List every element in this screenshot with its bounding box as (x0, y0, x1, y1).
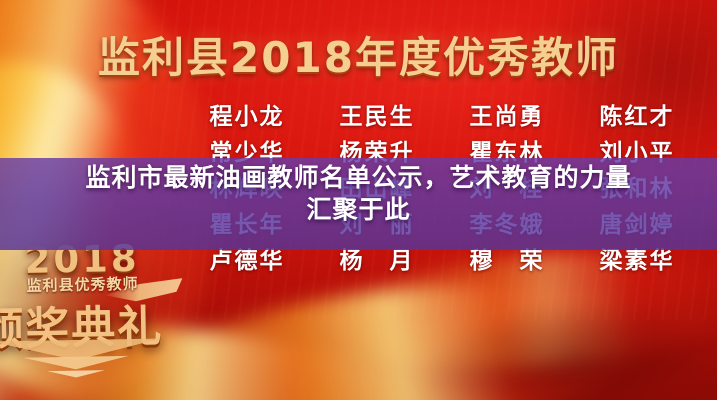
name-cell: 王民生 (322, 97, 432, 131)
name-row: 程小龙 王民生 王尚勇 陈红才 (192, 96, 692, 132)
overlay-headline-line2: 汇聚于此 (0, 194, 717, 226)
award-ceremony-emblem: 2018 监利县优秀教师 颁奖典礼 (0, 234, 178, 388)
name-cell: 陈红才 (582, 97, 692, 131)
ribbon-shadow-bottom-right (415, 285, 717, 400)
name-cell: 程小龙 (192, 97, 302, 131)
chevron-down-icon (0, 339, 161, 382)
overlay-headline-line1: 监利市最新油画教师名单公示，艺术教育的力量 (85, 163, 631, 192)
name-cell: 王尚勇 (452, 97, 562, 131)
poster-title: 监利县2018年度优秀教师 (0, 24, 717, 85)
poster-image: 监利县2018年度优秀教师 程小龙 王民生 王尚勇 陈红才 常少华 杨荣升 瞿东… (0, 0, 717, 400)
ribbon-highlight-bottom-center (123, 259, 657, 400)
overlay-headline: 监利市最新油画教师名单公示，艺术教育的力量 汇聚于此 (0, 162, 717, 226)
